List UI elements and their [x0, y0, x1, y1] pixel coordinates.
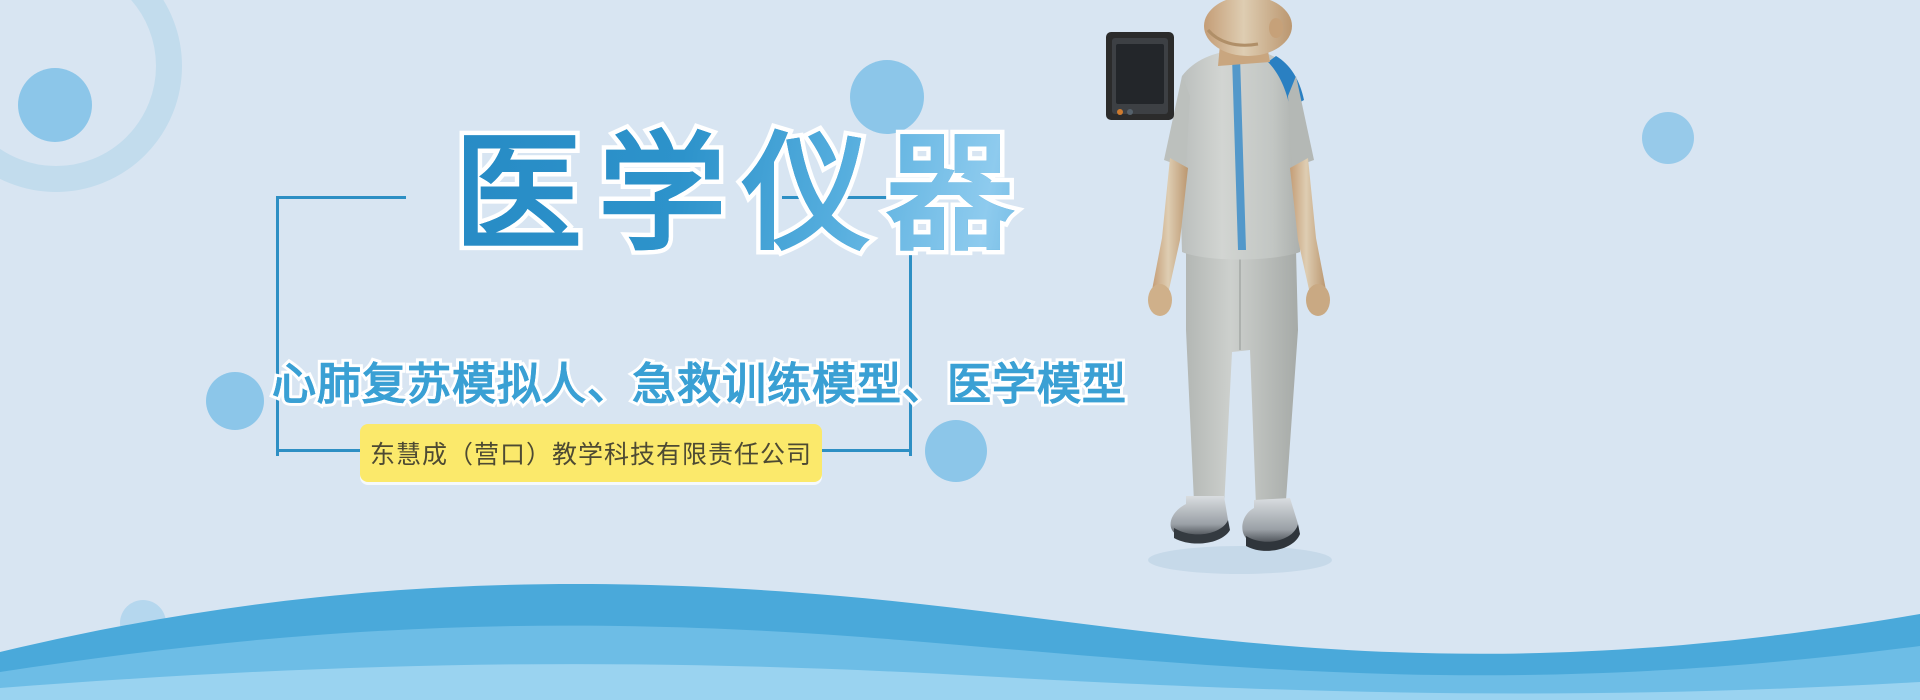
device-led-2	[1127, 109, 1133, 115]
device-led	[1117, 109, 1123, 115]
manikin-trousers	[1186, 250, 1298, 508]
wave-decoration	[0, 400, 1920, 700]
circle-top-left-ring	[0, 0, 182, 192]
manikin-ear	[1269, 18, 1283, 38]
manikin-hand-right	[1306, 284, 1330, 316]
subtitle: 心肺复苏模拟人、急救训练模型、医学模型	[272, 348, 932, 412]
manikin-hand-left	[1148, 284, 1172, 316]
circle-far-right	[1642, 112, 1694, 164]
company-name-plate: 东慧成（营口）教学科技有限责任公司	[360, 424, 822, 482]
training-tablet-device	[1106, 32, 1174, 120]
manikin-floor-shadow	[1148, 546, 1332, 574]
page-title: 医学仪器	[342, 128, 1142, 262]
banner-root: 医学仪器 医学仪器 心肺复苏模拟人、急救训练模型、医学模型 心肺复苏模拟人、急救…	[0, 0, 1920, 700]
company-name-text: 东慧成（营口）教学科技有限责任公司	[360, 424, 822, 482]
cpr-manikin	[1090, 0, 1390, 700]
